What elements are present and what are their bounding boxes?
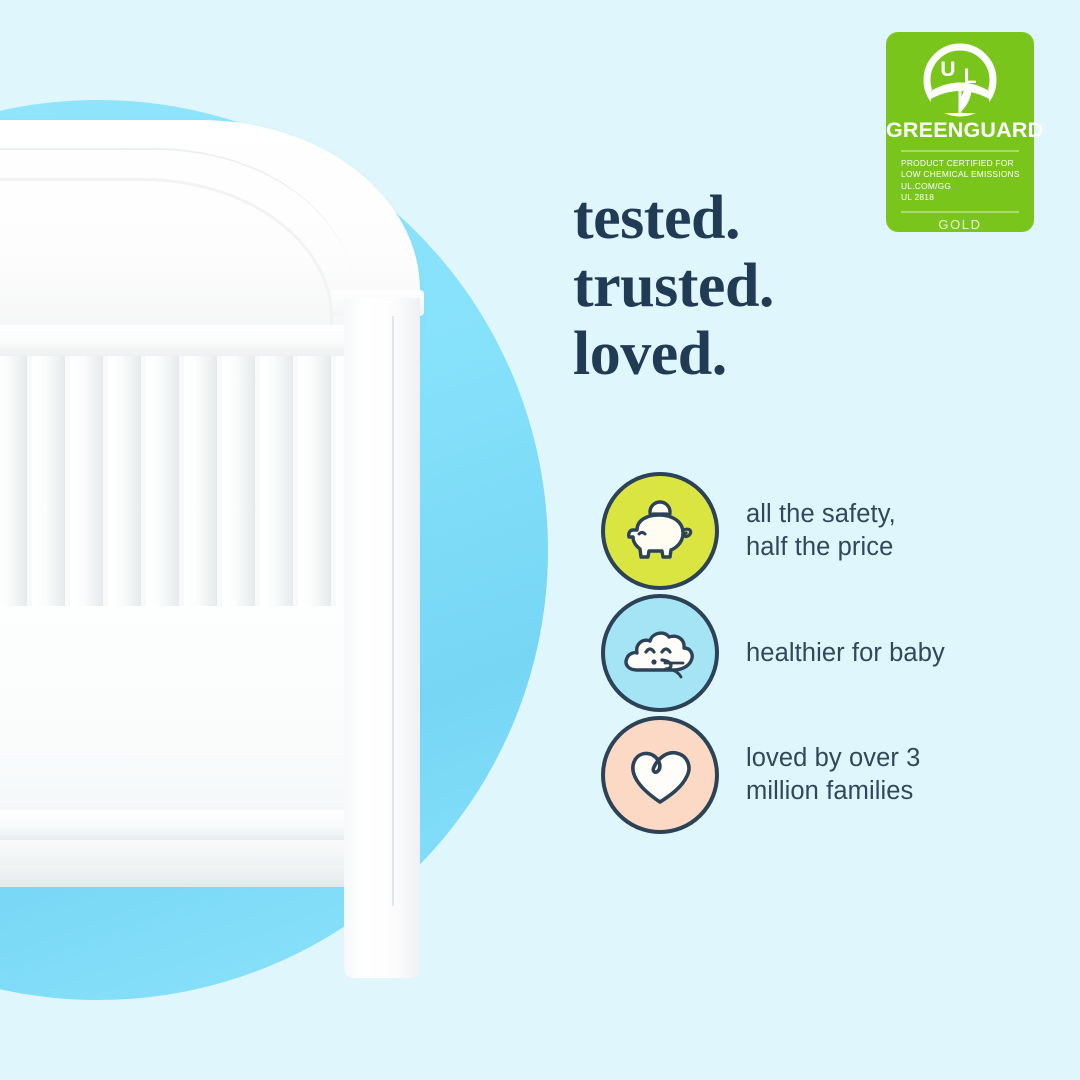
crib-corner-post	[344, 298, 420, 978]
feature-text-health: healthier for baby	[746, 637, 945, 670]
page-headline: tested. trusted. loved.	[573, 184, 1013, 388]
badge-fine-line-2: LOW CHEMICAL EMISSIONS	[901, 169, 1034, 180]
feature-text-loved: loved by over 3 million families	[746, 742, 920, 808]
feature-health-line-1: healthier for baby	[746, 637, 945, 670]
greenguard-title: GREENGUARD	[886, 118, 1034, 143]
headline-line-2: trusted.	[573, 252, 1013, 320]
feature-price-line-2: half the price	[746, 531, 896, 564]
crib-headboard-panel	[0, 148, 355, 333]
feature-loved-line-2: million families	[746, 775, 920, 808]
promo-image: U L GREENGUARD PRODUCT CERTIFIED FOR LOW…	[0, 0, 1080, 1080]
feature-list: all the safety, half the price healthier…	[601, 470, 1041, 836]
crib-lower-rail	[0, 810, 380, 840]
crib-mattress	[0, 606, 370, 836]
feature-price-line-1: all the safety,	[746, 498, 896, 531]
svg-text:L: L	[964, 65, 977, 88]
crib-product-image	[0, 120, 540, 950]
ul-greenguard-leaf-icon: U L	[918, 42, 1002, 120]
badge-divider-top	[901, 150, 1019, 152]
feature-item-price: all the safety, half the price	[601, 470, 1041, 592]
feature-text-price: all the safety, half the price	[746, 498, 896, 564]
piggy-bank-icon	[601, 472, 719, 590]
crib-post-seam	[392, 316, 394, 906]
feature-loved-line-1: loved by over 3	[746, 742, 920, 775]
feature-item-loved: loved by over 3 million families	[601, 714, 1041, 836]
headline-line-1: tested.	[573, 184, 1013, 252]
smiling-cloud-icon	[601, 594, 719, 712]
feature-item-health: healthier for baby	[601, 592, 1041, 714]
svg-text:U: U	[940, 58, 955, 81]
crib-base-rail	[0, 840, 380, 866]
badge-fine-line-1: PRODUCT CERTIFIED FOR	[901, 158, 1034, 169]
heart-icon	[601, 716, 719, 834]
headline-line-3: loved.	[573, 320, 1013, 388]
crib-skirt	[0, 865, 380, 887]
